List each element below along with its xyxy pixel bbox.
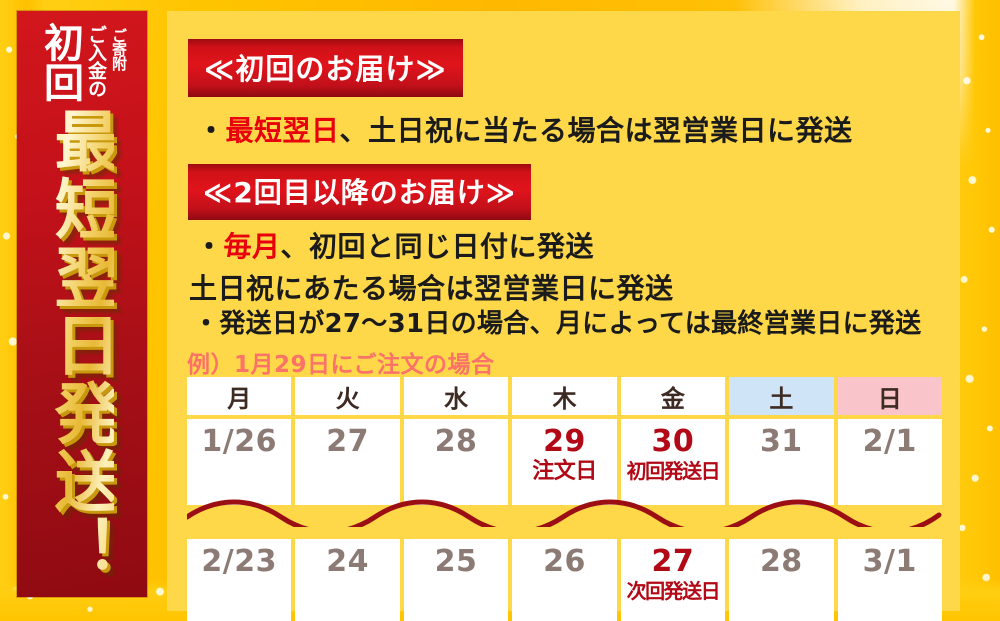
side-headline-group: 初回 ご入金の ご寄附 [17,19,147,105]
calendar-cell: 3/1 [838,539,942,621]
bullet-rest: 、初回と同じ日付に発送 [281,230,595,263]
wavy-divider-icon [187,493,944,527]
day-number: 24 [326,545,369,579]
first-delivery-bullet: ・最短翌日、土日祝に当たる場合は翌営業日に発送 [197,109,853,149]
subsequent-bullet-2: 土日祝にあたる場合は翌営業日に発送 [189,267,674,307]
day-number: 28 [435,425,478,459]
section-label-subsequent-delivery: ≪2回目以降のお届け≫ [188,164,531,220]
day-number: 2/1 [863,425,917,459]
day-tag: 次回発送日 [627,580,720,602]
weekday-header-mon: 月 [187,377,291,415]
day-number: 26 [543,545,586,579]
side-red-banner: 初回 ご入金の ご寄附 最短翌日発送！ [17,11,147,597]
calendar-date-row-2: 2/23 24 25 26 27 次回発送日 28 [187,539,942,621]
calendar-cell: 28 [729,539,833,621]
subsequent-bullet-1: ・毎月、初回と同じ日付に発送 [195,225,594,265]
weekday-header-sun: 日 [838,377,942,415]
day-number: 30 [652,425,695,459]
bullet-marker: ・ [195,230,224,263]
weekday-header-fri: 金 [621,377,725,415]
promo-banner: 初回 ご入金の ご寄附 最短翌日発送！ ≪初回のお届け≫ ・最短翌日、土日祝に当… [0,0,1000,621]
side-headline-main: 初回 [29,19,81,105]
weekday-header-wed: 水 [404,377,508,415]
bullet-highlight: 毎月 [224,230,281,263]
bullet-marker: ・ [193,309,219,339]
weekday-header-tue: 火 [295,377,399,415]
bullet-rest: 発送日が27～31日の場合、月によっては最終営業日に発送 [219,309,921,339]
calendar-cell-next-shipping-date: 27 次回発送日 [621,539,725,621]
day-number: 31 [760,425,803,459]
day-number: 3/1 [863,545,917,579]
day-tag: 初回発送日 [627,460,720,482]
example-note: 例）1月29日にご注文の場合 [187,345,495,379]
calendar-cell: 26 [512,539,616,621]
bullet-highlight: 最短翌日 [226,114,340,147]
side-slogan-text: 最短翌日発送！ [50,107,113,583]
content-panel: ≪初回のお届け≫ ・最短翌日、土日祝に当たる場合は翌営業日に発送 ≪2回目以降の… [167,11,960,611]
day-number: 1/26 [201,425,277,459]
day-number: 25 [435,545,478,579]
day-number: 27 [652,545,695,579]
section-label-first-delivery: ≪初回のお届け≫ [188,39,463,97]
bullet-rest: 、土日祝に当たる場合は翌営業日に発送 [340,114,853,147]
calendar-cell: 2/23 [187,539,291,621]
calendar-header-row: 月 火 水 木 金 土 日 [187,377,942,415]
calendar-cell: 24 [295,539,399,621]
day-tag: 注文日 [532,460,597,484]
side-headline-sub-right: ご寄附 [109,28,130,70]
side-slogan-wrap: 最短翌日発送！ [17,107,147,595]
day-number: 29 [543,425,586,459]
day-number: 2/23 [201,545,277,579]
subsequent-bullet-3: ・発送日が27～31日の場合、月によっては最終営業日に発送 [193,303,921,340]
weekday-header-sat: 土 [729,377,833,415]
gold-bubble-texture-right [954,0,1000,621]
day-number: 27 [326,425,369,459]
day-number: 28 [760,545,803,579]
calendar-cell: 25 [404,539,508,621]
weekday-header-thu: 木 [512,377,616,415]
side-headline-sub-left: ご入金の [83,25,110,97]
bullet-marker: ・ [197,114,226,147]
